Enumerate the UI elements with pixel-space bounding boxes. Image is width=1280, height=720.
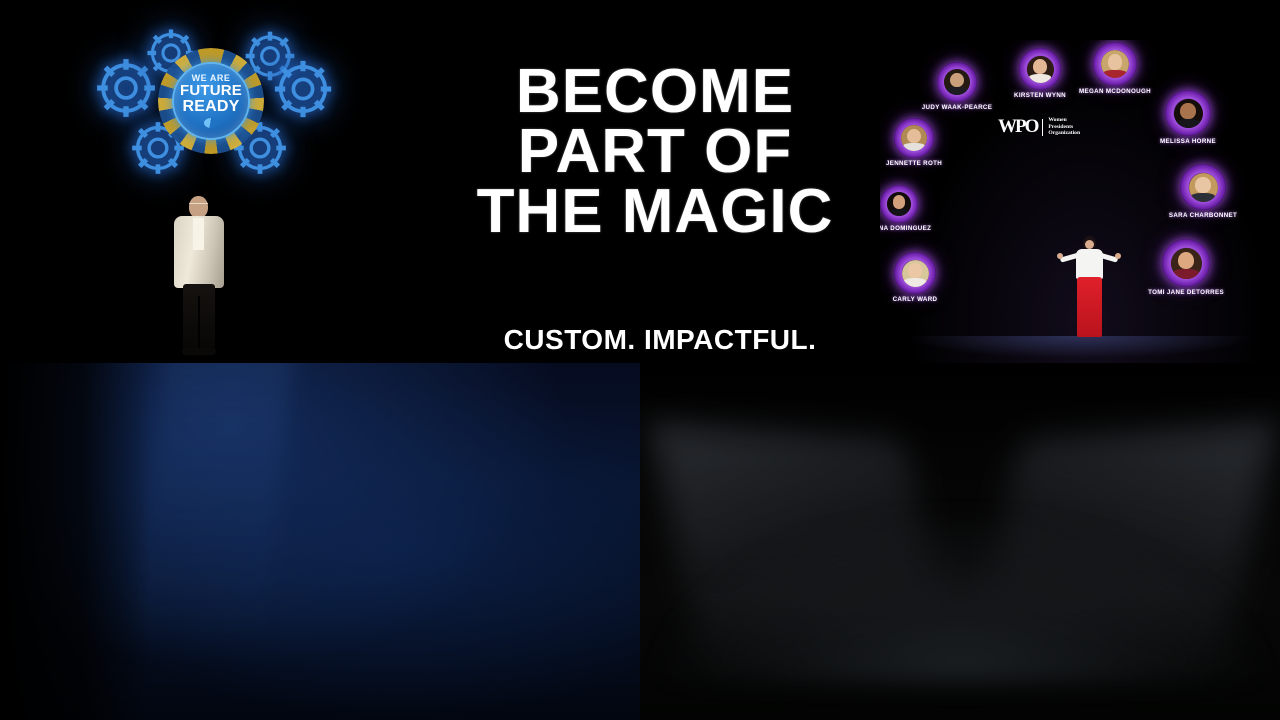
avatar-clothing: [903, 143, 925, 151]
avatar-clothing: [1173, 269, 1199, 278]
speaker-leg-gap: [198, 296, 200, 354]
headshot-halo: MELISSA HORNE: [1165, 90, 1211, 152]
headshot-name-label: CARLY WARD: [893, 296, 938, 303]
headshot-avatar: [1101, 50, 1129, 78]
stage-haze: [640, 503, 1280, 683]
wpo-speaker-face: [1085, 240, 1094, 249]
avatar-face: [1180, 103, 1195, 119]
logo-line-2: FUTURE: [180, 83, 242, 99]
headshot-halo: CARLY WARD: [894, 252, 936, 310]
water-light-beam: [133, 363, 297, 643]
left-vignette: [0, 363, 150, 720]
halo-ring: [1180, 164, 1226, 210]
avatar-face: [1195, 177, 1210, 193]
headshot-halo: TOMI JANE DETORRES: [1162, 239, 1210, 303]
halo-ring: [1165, 90, 1211, 136]
subheadline-line-2: UNFORGETTABLE.: [380, 358, 940, 363]
headline-line-3: THE MAGIC: [420, 182, 890, 242]
headshot-name-label: GIANA DOMINGUEZ: [880, 225, 931, 232]
headshot-name-label: MELISSA HORNE: [1160, 138, 1216, 145]
wpo-mark-text: WPO: [998, 116, 1037, 138]
headline-line-1: BECOME: [420, 62, 890, 122]
headshot-name-label: KIRSTEN WYNN: [1014, 92, 1066, 99]
subheadline-block: CUSTOM. IMPACTFUL. UNFORGETTABLE.: [380, 322, 940, 363]
headline-block: BECOME PART OF THE MAGIC: [420, 62, 890, 242]
headshot-name-label: MEGAN MCDONOUGH: [1079, 88, 1151, 95]
wpo-speaker-red-pants: [1077, 277, 1102, 337]
avatar-clothing: [889, 209, 909, 216]
avatar-face: [908, 263, 922, 278]
avatar-face: [1033, 59, 1047, 74]
speaker-head: [189, 196, 208, 218]
headshot-name-label: JUDY WAAK-PEARCE: [922, 104, 992, 111]
avatar-face: [950, 73, 964, 88]
headline-line-2: PART OF: [420, 122, 890, 182]
avatar-clothing: [1176, 119, 1200, 128]
headshot-halo: GIANA DOMINGUEZ: [880, 185, 918, 239]
wpo-divider: [1042, 119, 1043, 136]
headshot-avatar: [902, 260, 929, 287]
avatar-face: [893, 195, 905, 208]
wpo-logo: WPO Women Presidents Organization: [998, 116, 1080, 138]
logo-line-3: READY: [182, 99, 239, 116]
wpo-speaker-blouse: [1076, 249, 1103, 279]
wpo-speaker-hand-right: [1115, 253, 1121, 259]
speaker-shirt: [193, 218, 204, 250]
halo-ring: [1162, 239, 1210, 287]
wpo-org-text: Women Presidents Organization: [1048, 117, 1080, 137]
avatar-face: [1178, 252, 1194, 269]
halo-ring: [1093, 42, 1137, 86]
we-are-future-ready-logo: WE ARE FUTURE READY: [88, 22, 328, 182]
headshot-avatar: [944, 69, 970, 95]
headshot-halo: SARA CHARBONNET: [1180, 164, 1226, 226]
headshot-halo: MEGAN MCDONOUGH: [1093, 42, 1137, 102]
wpo-speaker-figure: [1066, 236, 1112, 341]
headshot-avatar: [901, 125, 927, 151]
headshot-avatar: [887, 192, 911, 216]
avatar-clothing: [1103, 70, 1127, 78]
wpo-org-line-1: Women: [1048, 117, 1066, 123]
halo-ring: [880, 185, 918, 223]
avatar-clothing: [1029, 74, 1052, 82]
panel-top: WE ARE FUTURE READY BECOME PART OF THE M…: [0, 0, 1280, 363]
speaker-figure-stage: [168, 196, 230, 356]
halo-ring: [894, 118, 934, 158]
panel-football-field: 30: [640, 363, 1280, 720]
avatar-face: [907, 129, 921, 144]
headshot-halo: JENNETTE ROTH: [894, 118, 934, 174]
panel-underwater: [0, 363, 640, 720]
logo-core-badge: WE ARE FUTURE READY: [172, 62, 250, 140]
presentation-collage: WE ARE FUTURE READY BECOME PART OF THE M…: [0, 0, 1280, 720]
wpo-speaker-hand-left: [1057, 253, 1063, 259]
wpo-org-line-3: Organization: [1048, 130, 1080, 136]
subheadline-line-1: CUSTOM. IMPACTFUL.: [380, 322, 940, 358]
halo-ring: [1019, 48, 1061, 90]
headshot-name-label: SARA CHARBONNET: [1169, 212, 1237, 219]
wpo-org-line-2: Presidents: [1048, 124, 1073, 130]
avatar-clothing: [1191, 193, 1215, 202]
panel-wpo-montage: JUDY WAAK-PEARCEKIRSTEN WYNNMEGAN MCDONO…: [880, 40, 1280, 363]
headshot-halo: KIRSTEN WYNN: [1019, 48, 1061, 106]
logo-swoosh-icon: [204, 118, 218, 128]
speaker-shoes: [182, 348, 216, 355]
halo-ring: [894, 252, 936, 294]
headshot-name-label: TOMI JANE DETORRES: [1148, 289, 1224, 296]
headshot-halo: JUDY WAAK-PEARCE: [937, 62, 977, 118]
avatar-clothing: [904, 278, 927, 286]
headshot-avatar: [1171, 248, 1202, 279]
headshot-name-label: JENNETTE ROTH: [886, 160, 942, 167]
headshot-avatar: [1189, 173, 1218, 202]
halo-ring: [937, 62, 977, 102]
headshot-avatar: [1027, 56, 1054, 83]
avatar-clothing: [946, 87, 968, 95]
headshot-avatar: [1174, 99, 1203, 128]
avatar-face: [1108, 54, 1123, 70]
glasses-icon: [189, 203, 208, 207]
